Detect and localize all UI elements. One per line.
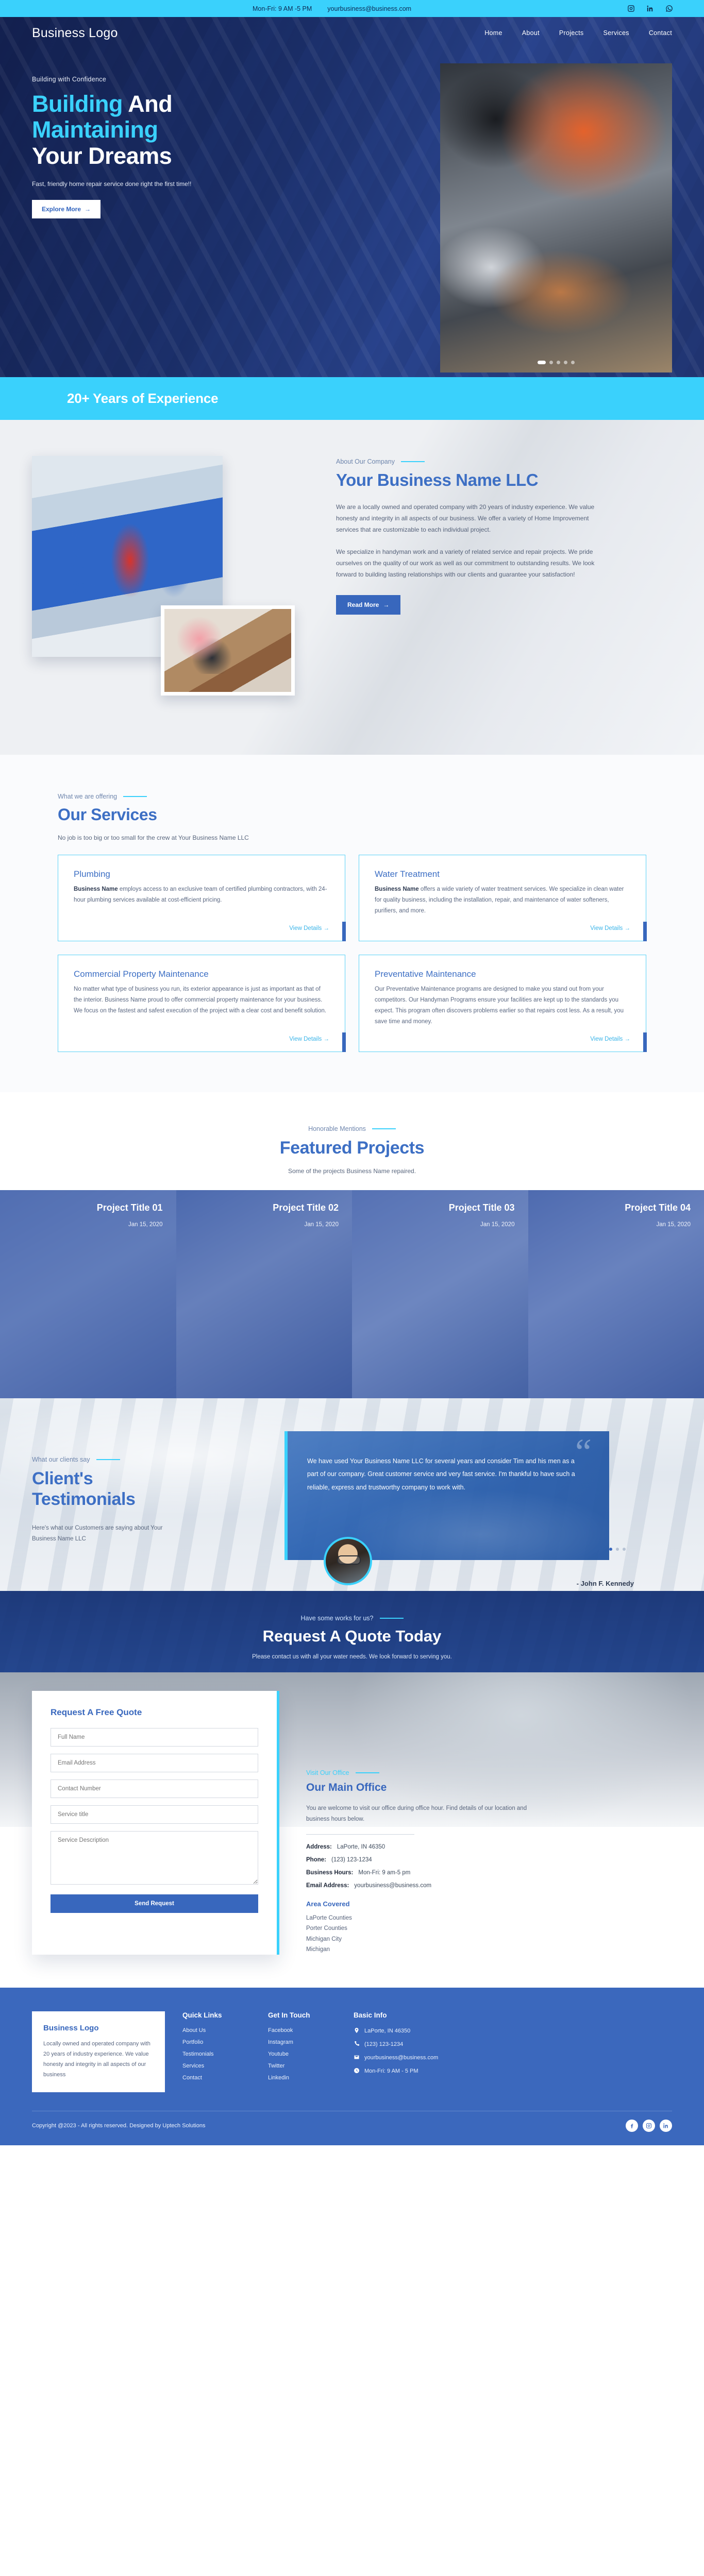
about-paragraph-2: We specialize in handyman work and a var… (336, 547, 609, 580)
experience-banner: 20+ Years of Experience (0, 377, 704, 420)
explore-more-button[interactable]: Explore More → (32, 200, 100, 218)
about-section: About Our Company Your Business Name LLC… (0, 420, 704, 755)
eyebrow-rule (380, 1618, 404, 1619)
footer-basic-info: Basic Info LaPorte, IN 46350 (123) 123-1… (354, 2011, 498, 2092)
service-lead: Business Name (74, 886, 118, 892)
service-title: Water Treatment (375, 869, 630, 879)
office-email-key: Email Address: (306, 1883, 349, 1889)
testimonials-section: What our clients say Client's Testimonia… (0, 1398, 704, 1591)
facebook-icon[interactable] (626, 2120, 638, 2132)
about-text: About Our Company Your Business Name LLC… (321, 456, 672, 708)
slider-dot-5[interactable] (571, 361, 575, 364)
project-title: Project Title 04 (542, 1202, 691, 1213)
office-phone-key: Phone: (306, 1857, 326, 1863)
hero-title: Building And Maintaining Your Dreams (32, 91, 351, 169)
hero-title-line2: Maintaining (32, 117, 351, 143)
hero-subtitle: Fast, friendly home repair service done … (32, 180, 351, 188)
nav-item-home[interactable]: Home (484, 29, 502, 37)
phone-icon (354, 2041, 360, 2048)
testimonial-dot-1[interactable] (609, 1548, 612, 1551)
send-request-button[interactable]: Send Request (51, 1894, 258, 1913)
mail-icon (354, 2054, 360, 2062)
testimonials-title-line1: Client's (32, 1468, 279, 1489)
service-title: Plumbing (74, 869, 329, 879)
full-name-input[interactable] (51, 1728, 258, 1747)
projects-subtitle: Some of the projects Business Name repai… (0, 1167, 704, 1175)
about-title: Your Business Name LLC (336, 470, 672, 490)
arrow-right-icon: → (625, 1036, 631, 1042)
projects-eyebrow-label: Honorable Mentions (308, 1125, 366, 1132)
service-card-commercial-property-maintenance[interactable]: Commercial Property Maintenance No matte… (58, 955, 345, 1052)
office-address-row: Address:LaPorte, IN 46350 (306, 1844, 672, 1850)
footer-link-facebook[interactable]: Facebook (268, 2027, 336, 2033)
office-description: You are welcome to visit our office duri… (306, 1803, 533, 1825)
main-office-info: Visit Our Office Our Main Office You are… (279, 1703, 672, 1955)
service-card-water-treatment[interactable]: Water Treatment Business Name offers a w… (359, 855, 646, 941)
hero-image-content (440, 63, 672, 372)
testimonial-dot-2[interactable] (616, 1548, 619, 1551)
view-details-link[interactable]: View Details → (289, 925, 329, 931)
project-title: Project Title 02 (190, 1202, 339, 1213)
footer-get-in-touch: Get In Touch Facebook Instagram Youtube … (268, 2011, 336, 2092)
quote-eyebrow: Have some works for us? (0, 1615, 704, 1622)
footer-quick-links: Quick Links About Us Portfolio Testimoni… (182, 2011, 250, 2092)
testimonials-title-line2: Testimonials (32, 1489, 279, 1510)
office-phone-value[interactable]: (123) 123-1234 (331, 1857, 372, 1863)
footer-info-address: LaPorte, IN 46350 (354, 2027, 498, 2035)
footer-link-services[interactable]: Services (182, 2063, 250, 2069)
services-section: What we are offering Our Services No job… (0, 755, 704, 1092)
nav-item-about[interactable]: About (522, 29, 540, 37)
main-navigation: Business Logo Home About Projects Servic… (0, 17, 704, 49)
arrow-right-icon: → (625, 925, 631, 931)
explore-more-label: Explore More (42, 206, 81, 213)
project-date: Jan 15, 2020 (190, 1222, 339, 1228)
footer-bottom: Copyright @2023 - All rights reserved. D… (32, 2111, 672, 2132)
service-body: No matter what type of business you run,… (74, 986, 326, 1014)
office-phone-row: Phone:(123) 123-1234 (306, 1857, 672, 1863)
project-date: Jan 15, 2020 (542, 1222, 691, 1228)
projects-eyebrow: Honorable Mentions (0, 1125, 704, 1132)
office-hours-row: Business Hours:Mon-Fri: 9 am-5 pm (306, 1870, 672, 1876)
footer-link-portfolio[interactable]: Portfolio (182, 2039, 250, 2045)
arrow-right-icon: → (85, 206, 91, 213)
service-card-plumbing[interactable]: Plumbing Business Name employs access to… (58, 855, 345, 941)
top-bar-contact: Mon-Fri: 9 AM -5 PM yourbusiness@busines… (253, 5, 411, 12)
service-card-preventative-maintenance[interactable]: Preventative Maintenance Our Preventativ… (359, 955, 646, 1052)
area-covered-list: LaPorte Counties Porter Counties Michiga… (306, 1913, 672, 1955)
footer-link-youtube[interactable]: Youtube (268, 2051, 336, 2057)
top-bar-social (627, 5, 673, 12)
location-icon (354, 2027, 360, 2035)
footer-link-contact[interactable]: Contact (182, 2075, 250, 2081)
office-hours-value: Mon-Fri: 9 am-5 pm (358, 1870, 410, 1876)
hero-title-line3: Your Dreams (32, 143, 351, 169)
projects-title: Featured Projects (0, 1138, 704, 1158)
eyebrow-rule (372, 1128, 396, 1129)
testimonials-intro: What our clients say Client's Testimonia… (32, 1431, 279, 1560)
site-footer: Business Logo Locally owned and operated… (0, 1988, 704, 2145)
footer-hours-text: Mon-Fri: 9 AM - 5 PM (364, 2068, 418, 2074)
testimonials-eyebrow: What our clients say (32, 1456, 279, 1463)
service-title-input[interactable] (51, 1805, 258, 1824)
services-grid: Plumbing Business Name employs access to… (58, 855, 646, 1052)
view-details-label: View Details (590, 925, 623, 931)
clock-icon (354, 2067, 360, 2075)
project-card[interactable]: Project Title 01 Jan 15, 2020 (0, 1190, 176, 1398)
about-images (32, 456, 321, 708)
project-date: Jan 15, 2020 (13, 1222, 163, 1228)
footer-link-twitter[interactable]: Twitter (268, 2063, 336, 2069)
nav-links: Home About Projects Services Contact (484, 29, 672, 37)
footer-social (626, 2120, 672, 2132)
quote-form: Request A Free Quote Send Request (32, 1691, 279, 1955)
footer-link-about-us[interactable]: About Us (182, 2027, 250, 2033)
office-email-value[interactable]: yourbusiness@business.com (354, 1883, 431, 1889)
testimonial-author: - John F. Kennedy (577, 1580, 634, 1587)
project-card[interactable]: Project Title 04 Jan 15, 2020 (528, 1190, 704, 1398)
office-address-key: Address: (306, 1844, 332, 1850)
footer-get-in-touch-title: Get In Touch (268, 2011, 336, 2019)
testimonial-dot-3[interactable] (623, 1548, 626, 1551)
hero-title-line1-accent: Building (32, 91, 123, 117)
view-details-link[interactable]: View Details → (289, 1036, 329, 1042)
whatsapp-icon[interactable] (665, 5, 673, 12)
business-hours-text: Mon-Fri: 9 AM -5 PM (253, 5, 312, 12)
eyebrow-rule (401, 461, 425, 462)
footer-brand: Business Logo Locally owned and operated… (32, 2011, 165, 2092)
service-body: Our Preventative Maintenance programs ar… (375, 986, 624, 1025)
office-eyebrow-label: Visit Our Office (306, 1769, 349, 1776)
slider-dot-1[interactable] (538, 361, 546, 364)
copyright-text: Copyright @2023 - All rights reserved. D… (32, 2123, 205, 2129)
view-details-link[interactable]: View Details → (590, 1036, 630, 1042)
eyebrow-rule (356, 1772, 379, 1773)
footer-address-text: LaPorte, IN 46350 (364, 2028, 410, 2034)
about-image-secondary (161, 605, 295, 696)
linkedin-icon[interactable] (660, 2120, 672, 2132)
footer-info-email: yourbusiness@business.com (354, 2054, 498, 2062)
email-address-input[interactable] (51, 1754, 258, 1772)
request-quote-section: Have some works for us? Request A Quote … (0, 1591, 704, 1988)
testimonial-carousel: “ We have used Your Business Name LLC fo… (279, 1431, 672, 1560)
view-details-label: View Details (289, 1036, 322, 1042)
instagram-icon[interactable] (643, 2120, 655, 2132)
view-details-label: View Details (289, 925, 322, 931)
about-paragraph-1: We are a locally owned and operated comp… (336, 502, 609, 535)
services-eyebrow-label: What we are offering (58, 793, 117, 800)
services-eyebrow: What we are offering (58, 793, 646, 800)
eyebrow-rule (96, 1459, 120, 1460)
hero-eyebrow: Building with Confidence (32, 76, 351, 83)
office-title: Our Main Office (306, 1782, 672, 1794)
instagram-icon[interactable] (627, 5, 635, 12)
testimonials-subtitle: Here's what our Customers are saying abo… (32, 1523, 187, 1544)
page-root: Mon-Fri: 9 AM -5 PM yourbusiness@busines… (0, 0, 704, 2145)
project-date: Jan 15, 2020 (365, 1222, 515, 1228)
top-bar: Mon-Fri: 9 AM -5 PM yourbusiness@busines… (0, 0, 704, 17)
read-more-button[interactable]: Read More → (336, 595, 400, 615)
project-title: Project Title 03 (365, 1202, 515, 1213)
arrow-right-icon: → (383, 601, 389, 608)
slider-dot-3[interactable] (557, 361, 560, 364)
footer-link-instagram[interactable]: Instagram (268, 2039, 336, 2045)
hero-title-line1-rest: And (123, 91, 172, 117)
footer-email-text[interactable]: yourbusiness@business.com (364, 2055, 438, 2061)
service-title: Preventative Maintenance (375, 969, 630, 979)
footer-basic-info-title: Basic Info (354, 2011, 498, 2019)
footer-quick-links-title: Quick Links (182, 2011, 250, 2019)
project-card[interactable]: Project Title 02 Jan 15, 2020 (176, 1190, 353, 1398)
service-description-textarea[interactable] (51, 1831, 258, 1885)
nav-item-contact[interactable]: Contact (649, 29, 672, 37)
footer-info-phone: (123) 123-1234 (354, 2041, 498, 2048)
service-title: Commercial Property Maintenance (74, 969, 329, 979)
avatar (324, 1537, 372, 1585)
footer-brand-title: Business Logo (43, 2024, 154, 2032)
nav-item-projects[interactable]: Projects (559, 29, 584, 37)
hero-slider-dots (440, 361, 672, 364)
testimonial-quote: We have used Your Business Name LLC for … (307, 1455, 584, 1495)
quote-form-heading: Request A Free Quote (51, 1707, 258, 1718)
hero-copy: Building with Confidence Building And Ma… (32, 63, 351, 372)
services-subtitle: No job is too big or too small for the c… (58, 834, 646, 841)
office-email-row: Email Address:yourbusiness@business.com (306, 1883, 672, 1889)
quote-title: Request A Quote Today (0, 1627, 704, 1646)
footer-phone-text[interactable]: (123) 123-1234 (364, 2041, 403, 2047)
projects-section: Honorable Mentions Featured Projects Som… (0, 1092, 704, 1398)
office-address-value: LaPorte, IN 46350 (337, 1844, 385, 1850)
footer-link-linkedin[interactable]: Linkedin (268, 2075, 336, 2081)
nav-item-services[interactable]: Services (603, 29, 629, 37)
footer-info-hours: Mon-Fri: 9 AM - 5 PM (354, 2067, 498, 2075)
project-title: Project Title 01 (13, 1202, 163, 1213)
about-eyebrow-label: About Our Company (336, 458, 395, 465)
business-email-text: yourbusiness@business.com (327, 5, 411, 12)
quote-subtitle: Please contact us with all your water ne… (0, 1654, 704, 1660)
divider (306, 1834, 414, 1835)
quote-eyebrow-label: Have some works for us? (300, 1615, 373, 1622)
about-eyebrow: About Our Company (336, 458, 672, 465)
footer-link-testimonials[interactable]: Testimonials (182, 2051, 250, 2057)
view-details-link[interactable]: View Details → (590, 925, 630, 931)
service-lead: Business Name (375, 886, 419, 892)
experience-text: 20+ Years of Experience (67, 391, 218, 406)
slider-dot-2[interactable] (549, 361, 553, 364)
contact-number-input[interactable] (51, 1780, 258, 1798)
arrow-right-icon: → (324, 925, 330, 931)
testimonial-dots (609, 1548, 626, 1551)
hero-image (440, 63, 672, 372)
area-covered-heading: Area Covered (306, 1900, 672, 1908)
testimonials-eyebrow-label: What our clients say (32, 1456, 90, 1463)
read-more-label: Read More (347, 601, 379, 608)
eyebrow-rule (123, 796, 147, 797)
office-hours-key: Business Hours: (306, 1870, 353, 1876)
testimonials-title: Client's Testimonials (32, 1468, 279, 1510)
project-card[interactable]: Project Title 03 Jan 15, 2020 (352, 1190, 528, 1398)
linkedin-icon[interactable] (646, 5, 654, 12)
slider-dot-4[interactable] (564, 361, 567, 364)
projects-grid: Project Title 01 Jan 15, 2020 Project Ti… (0, 1190, 704, 1398)
services-title: Our Services (58, 805, 646, 825)
view-details-label: View Details (590, 1036, 623, 1042)
arrow-right-icon: → (324, 1036, 330, 1042)
hero-section: Business Logo Home About Projects Servic… (0, 17, 704, 377)
footer-brand-text: Locally owned and operated company with … (43, 2039, 154, 2080)
office-eyebrow: Visit Our Office (306, 1769, 672, 1776)
site-logo[interactable]: Business Logo (32, 26, 118, 41)
testimonial-card: “ We have used Your Business Name LLC fo… (284, 1431, 609, 1560)
